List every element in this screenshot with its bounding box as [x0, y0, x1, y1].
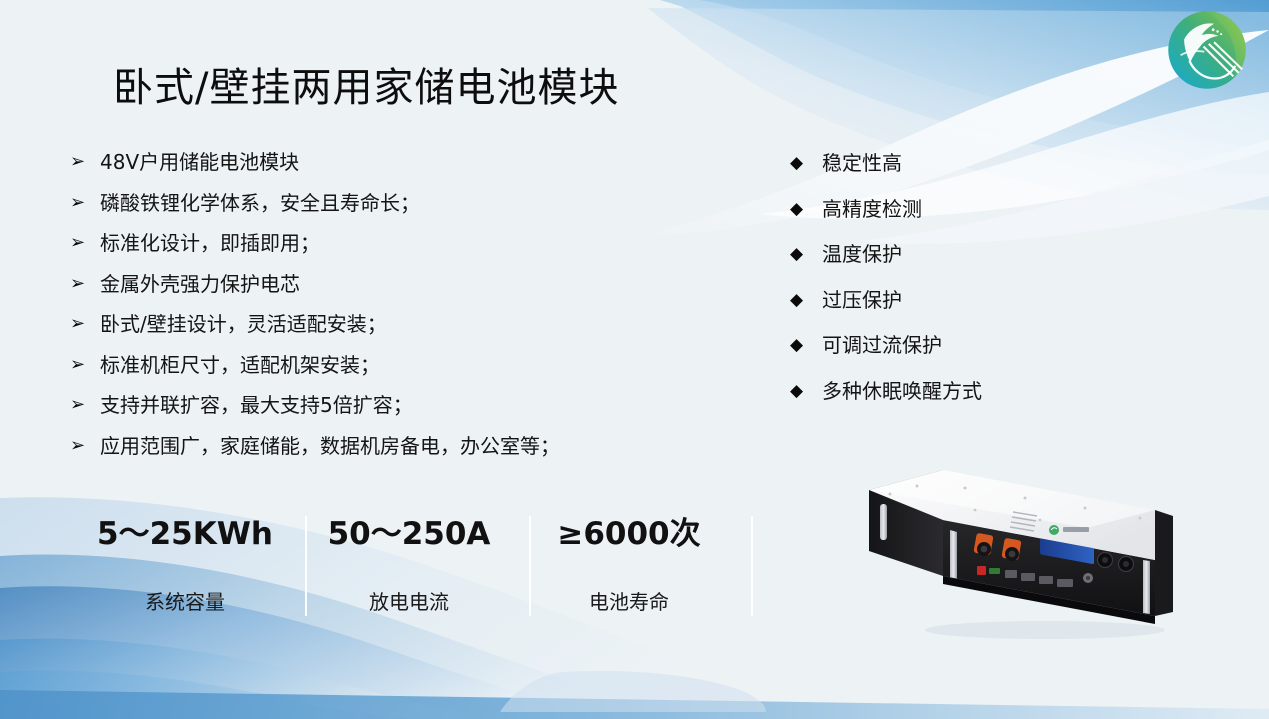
arrow-bullet-icon: ➢ — [70, 190, 100, 216]
list-item-label: 支持并联扩容，最大支持5倍扩容； — [100, 392, 730, 418]
slide-root: 卧式/壁挂两用家储电池模块 ➢ 48V户用储能电池模块 ➢ 磷酸铁锂化学体系，安… — [0, 0, 1269, 719]
list-item: ➢ 金属外壳强力保护电芯 — [70, 271, 730, 297]
list-item: ◆ 高精度检测 — [790, 196, 1090, 222]
list-item-label: 温度保护 — [822, 241, 1090, 267]
company-logo-icon — [1163, 6, 1251, 94]
arrow-bullet-icon: ➢ — [70, 352, 100, 378]
stat-discharge-current: 50～250A 放电电流 — [309, 514, 509, 615]
stat-value: ≥6000次 — [529, 514, 729, 554]
arrow-bullet-icon: ➢ — [70, 149, 100, 175]
list-item: ➢ 应用范围广，家庭储能，数据机房备电，办公室等； — [70, 433, 730, 459]
list-item: ➢ 卧式/壁挂设计，灵活适配安装； — [70, 311, 730, 337]
stat-divider — [305, 516, 307, 616]
list-item-label: 过压保护 — [822, 287, 1090, 313]
list-item-label: 金属外壳强力保护电芯 — [100, 271, 730, 297]
stat-divider — [751, 516, 753, 616]
list-item-label: 稳定性高 — [822, 150, 1090, 176]
battery-module-photo — [855, 448, 1200, 648]
stat-capacity: 5～25KWh 系统容量 — [85, 514, 285, 615]
arrow-bullet-icon: ➢ — [70, 271, 100, 297]
list-item: ➢ 磷酸铁锂化学体系，安全且寿命长； — [70, 190, 730, 216]
diamond-bullet-icon: ◆ — [790, 150, 822, 176]
list-item-label: 48V户用储能电池模块 — [100, 149, 730, 175]
arrow-bullet-icon: ➢ — [70, 311, 100, 337]
diamond-bullet-icon: ◆ — [790, 332, 822, 358]
list-item-label: 标准化设计，即插即用； — [100, 230, 730, 256]
stat-label: 电池寿命 — [529, 586, 729, 615]
list-item: ◆ 多种休眠唤醒方式 — [790, 378, 1090, 404]
stat-value: 5～25KWh — [85, 514, 285, 554]
diamond-bullet-icon: ◆ — [790, 196, 822, 222]
stat-label: 放电电流 — [309, 586, 509, 615]
arrow-bullet-icon: ➢ — [70, 433, 100, 459]
diamond-bullet-icon: ◆ — [790, 241, 822, 267]
arrow-bullet-icon: ➢ — [70, 392, 100, 418]
list-item: ◆ 可调过流保护 — [790, 332, 1090, 358]
list-item: ◆ 过压保护 — [790, 287, 1090, 313]
list-item-label: 多种休眠唤醒方式 — [822, 378, 1090, 404]
spec-stats-strip: 5～25KWh 系统容量 50～250A 放电电流 ≥6000次 电池寿命 — [85, 514, 785, 619]
list-item-label: 高精度检测 — [822, 196, 1090, 222]
list-item: ◆ 稳定性高 — [790, 150, 1090, 176]
stat-value: 50～250A — [309, 514, 509, 554]
list-item: ➢ 标准机柜尺寸，适配机架安装； — [70, 352, 730, 378]
stat-label: 系统容量 — [85, 586, 285, 615]
feature-list-left: ➢ 48V户用储能电池模块 ➢ 磷酸铁锂化学体系，安全且寿命长； ➢ 标准化设计… — [70, 149, 730, 473]
list-item: ➢ 标准化设计，即插即用； — [70, 230, 730, 256]
list-item: ◆ 温度保护 — [790, 241, 1090, 267]
list-item-label: 可调过流保护 — [822, 332, 1090, 358]
stat-cycle-life: ≥6000次 电池寿命 — [529, 514, 729, 615]
list-item-label: 应用范围广，家庭储能，数据机房备电，办公室等； — [100, 433, 730, 459]
diamond-bullet-icon: ◆ — [790, 378, 822, 404]
list-item: ➢ 48V户用储能电池模块 — [70, 149, 730, 175]
list-item-label: 磷酸铁锂化学体系，安全且寿命长； — [100, 190, 730, 216]
feature-list-right: ◆ 稳定性高 ◆ 高精度检测 ◆ 温度保护 ◆ 过压保护 ◆ 可调过流保护 ◆ … — [790, 150, 1090, 423]
list-item-label: 卧式/壁挂设计，灵活适配安装； — [100, 311, 730, 337]
diamond-bullet-icon: ◆ — [790, 287, 822, 313]
arrow-bullet-icon: ➢ — [70, 230, 100, 256]
list-item-label: 标准机柜尺寸，适配机架安装； — [100, 352, 730, 378]
list-item: ➢ 支持并联扩容，最大支持5倍扩容； — [70, 392, 730, 418]
slide-title: 卧式/壁挂两用家储电池模块 — [113, 55, 619, 113]
